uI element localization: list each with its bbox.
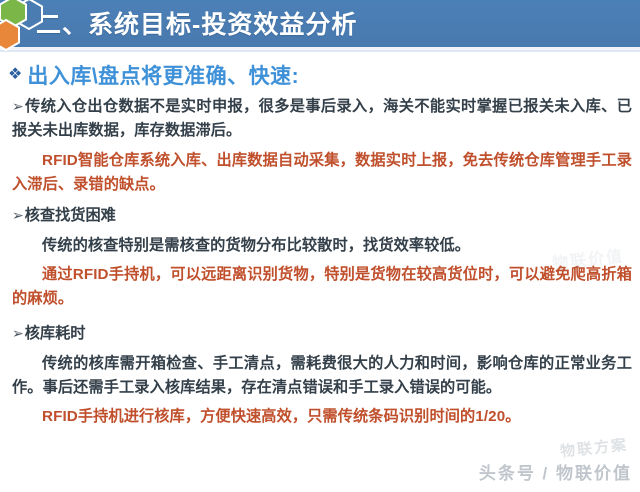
slide-title-bar: 二、系统目标-投资效益分析: [0, 0, 640, 50]
accent-paragraph-3: RFID手持机进行核库，方便快速高效，只需传统条码识别时间的1/20。: [0, 405, 640, 429]
section-heading-label: 出入库\盘点将更准确、快速:: [27, 60, 299, 90]
slide-body: ➢传统入仓出仓数据不是实时申报，很多是事后录入，海关不能实时掌握已报关未入库、已…: [0, 94, 640, 492]
arrow-bullet-icon-1: ➢: [12, 98, 24, 114]
arrow-bullet-icon-2: ➢: [12, 207, 24, 223]
page-title: 二、系统目标-投资效益分析: [36, 2, 357, 48]
hexagon-logo-icon: [0, 0, 50, 58]
diamond-bullet-icon: ❖: [8, 67, 22, 83]
title-underline: [0, 50, 640, 52]
accent-paragraph-2: 通过RFID手持机，可以远距离识别货物，特别是货物在较高货位时，可以避免爬高折箱…: [0, 263, 640, 311]
sub-heading-2-text: 核库耗时: [25, 325, 86, 342]
bullet-paragraph-2: 传统的核查特别是需核查的货物分布比较散时，找货效率较低。: [0, 234, 640, 258]
sub-heading-1-text: 核查找货困难: [25, 207, 116, 224]
bullet-paragraph-3: 传统的核库需开箱检查、手工清点，需耗费很大的人力和时间，影响仓库的正常业务工作。…: [0, 352, 640, 400]
section-heading: ❖ 出入库\盘点将更准确、快速:: [8, 58, 632, 92]
bullet-paragraph-1: ➢传统入仓出仓数据不是实时申报，很多是事后录入，海关不能实时掌握已报关未入库、已…: [0, 94, 640, 143]
sub-heading-2: ➢核库耗时: [0, 320, 640, 347]
sub-heading-1: ➢核查找货困难: [0, 202, 640, 229]
arrow-bullet-icon-3: ➢: [12, 325, 24, 341]
accent-paragraph-1: RFID智能仓库系统入库、出库数据自动采集，数据实时上报，免去传统仓库管理手工录…: [0, 149, 640, 197]
bullet-paragraph-1-text: 传统入仓出仓数据不是实时申报，很多是事后录入，海关不能实时掌握已报关未入库、已报…: [12, 98, 632, 139]
